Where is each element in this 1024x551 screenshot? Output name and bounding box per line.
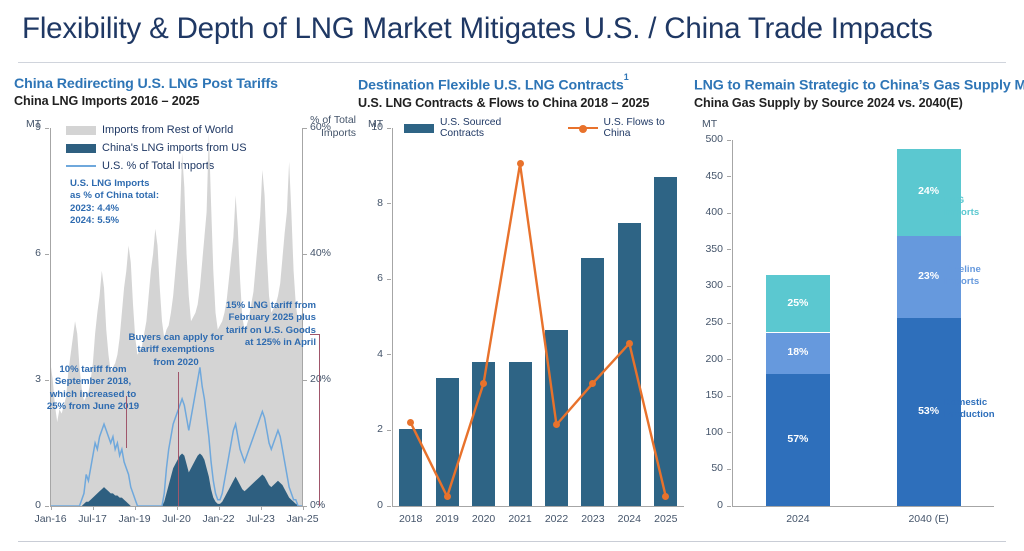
panel3-y-tick-label: 450 <box>694 170 723 182</box>
panel2-y-tick-label: 10 <box>362 121 383 133</box>
panel1-callout-line-3 <box>319 334 320 506</box>
panel2-x-tick-label: 2025 <box>644 513 688 525</box>
panel2-line-point <box>517 160 524 167</box>
panel1-y2-tick-label: 40% <box>310 247 331 259</box>
panel2-y-tick-label: 2 <box>362 423 383 435</box>
panel-destination-flexible: Destination Flexible U.S. LNG Contracts1… <box>358 76 694 536</box>
panel2-y-tick-label: 6 <box>362 272 383 284</box>
panel3-x-tick-label: 2024 <box>753 513 843 525</box>
panel3-stack-segment: 57% <box>766 374 830 506</box>
panel3-side-label-pipeline: Pipeline Imports <box>944 264 981 287</box>
panel1-callout-line-1 <box>126 396 127 448</box>
panel3-x-tick-label: 2040 (E) <box>884 513 974 525</box>
panel2-y-tick-label: 8 <box>362 197 383 209</box>
panel2-line-point <box>407 419 414 426</box>
panel2-bar <box>399 429 422 507</box>
legend-swatch-icon <box>404 124 434 133</box>
panel1-y-tick-label: 9 <box>19 121 41 133</box>
panel3-stack-segment: 18% <box>766 333 830 375</box>
legend-label: U.S. Flows to China <box>604 117 694 139</box>
panel3-y-tick-label: 350 <box>694 243 723 255</box>
panel1-y-tick-label: 0 <box>19 499 41 511</box>
panel3-y-tick-label: 100 <box>694 426 723 438</box>
panel3-subtitle: China Gas Supply by Source 2024 vs. 2040… <box>694 96 1014 110</box>
panel3-y-tick-label: 200 <box>694 353 723 365</box>
panel2-title: Destination Flexible U.S. LNG Contracts1 <box>358 76 694 94</box>
legend-item-sourced-contracts: U.S. Sourced Contracts <box>404 120 548 136</box>
panel1-y2-tick-label: 60% <box>310 121 331 133</box>
panel3-y-tick-label: 50 <box>694 462 723 474</box>
panel3-y-tick-label: 300 <box>694 279 723 291</box>
panel3-y-tick-label: 250 <box>694 316 723 328</box>
panel2-bar <box>545 330 568 506</box>
legend-line-dot-icon <box>568 124 598 133</box>
panel3-title: LNG to Remain Strategic to China’s Gas S… <box>694 76 1014 94</box>
panel3-y-tick-label: 0 <box>694 499 723 511</box>
panel2-bar <box>654 177 677 506</box>
panel3-title-text: LNG to Remain Strategic to China’s Gas S… <box>694 78 1024 94</box>
panel3-stack-segment: 24% <box>897 149 961 236</box>
panel2-line-point <box>626 340 633 347</box>
panel2-x-axis <box>392 506 684 507</box>
footer-divider <box>18 541 1006 542</box>
slide-canvas: Flexibility & Depth of LNG Market Mitiga… <box>0 0 1024 551</box>
panel3-y-tick-label: 400 <box>694 206 723 218</box>
panel1-x-tick-label: Jan-25 <box>277 513 329 525</box>
panel3-side-label-lng: LNG Imports <box>944 195 979 218</box>
panel2-line-point <box>480 380 487 387</box>
panel3-y-tick-label: 500 <box>694 133 723 145</box>
legend-item-flows-to-china: U.S. Flows to China <box>568 120 694 136</box>
panel2-y-tick-label: 0 <box>362 499 383 511</box>
panel2-bar <box>509 362 532 506</box>
panel-gas-supply-mix: LNG to Remain Strategic to China’s Gas S… <box>694 76 1014 536</box>
panel3-y-axis <box>732 140 733 506</box>
legend-label: U.S. Sourced Contracts <box>440 117 548 139</box>
panel3-segment-pct-label: 57% <box>766 433 830 445</box>
panel2-line-point <box>589 380 596 387</box>
panel2-legend: U.S. Sourced Contracts U.S. Flows to Chi… <box>404 120 694 138</box>
title-divider <box>18 62 1006 63</box>
panel1-annotation-3: 15% LNG tariff from February 2025 plus t… <box>204 300 316 349</box>
panel3-segment-pct-label: 18% <box>766 346 830 358</box>
panel2-bar <box>436 378 459 507</box>
panel2-subtitle: U.S. LNG Contracts & Flows to China 2018… <box>358 96 694 110</box>
panel2-y-tick-label: 4 <box>362 348 383 360</box>
panel3-x-axis <box>732 506 994 507</box>
panel-china-redirecting: China Redirecting U.S. LNG Post Tariffs … <box>14 76 359 536</box>
panel2-line-point <box>444 493 451 500</box>
panel3-segment-pct-label: 25% <box>766 297 830 309</box>
panel2-y-axis <box>392 128 393 506</box>
panel3-stack-segment: 25% <box>766 275 830 333</box>
page-title: Flexibility & Depth of LNG Market Mitiga… <box>22 12 933 46</box>
panel1-callout-line-2 <box>178 372 179 506</box>
panel3-side-label-domestic: Domestic Production <box>944 397 995 420</box>
panel1-y2-tick-label: 20% <box>310 373 331 385</box>
panel2-title-footnote: 1 <box>624 72 629 82</box>
panel1-annotation-1: 10% tariff from September 2018, which in… <box>28 364 158 413</box>
panel1-y2-tick-label: 0% <box>310 499 325 511</box>
panel3-y-unit: MT <box>702 118 717 130</box>
panel1-y-axis <box>50 128 51 506</box>
panel1-y-tick-label: 6 <box>19 247 41 259</box>
panel3-y-tick-label: 150 <box>694 389 723 401</box>
panel2-bar <box>618 223 641 507</box>
panel2-title-text: Destination Flexible U.S. LNG Contracts <box>358 78 624 94</box>
